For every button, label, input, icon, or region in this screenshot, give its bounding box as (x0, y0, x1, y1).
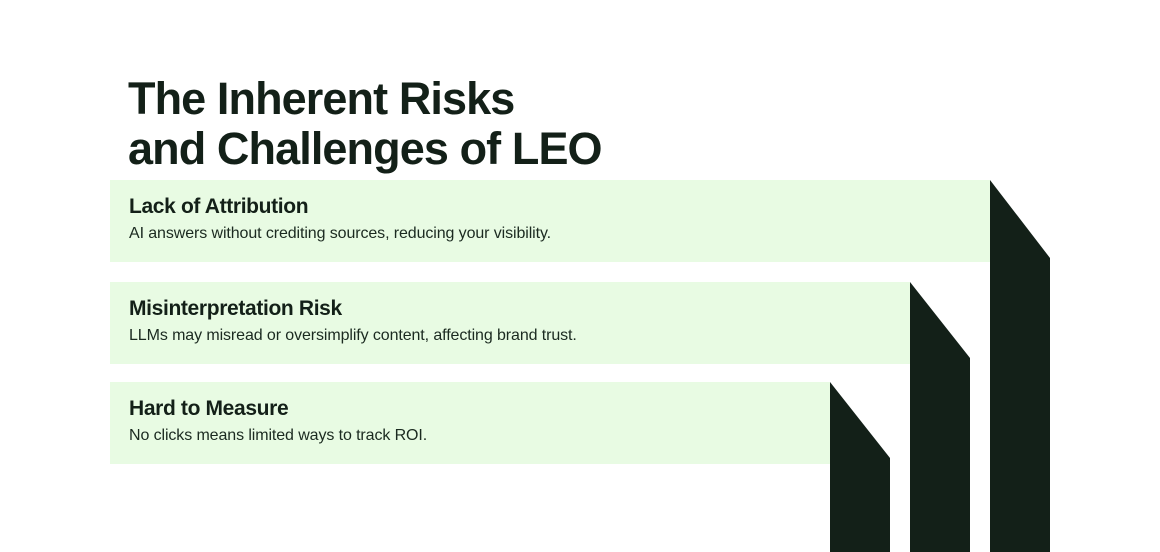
slide-canvas: The Inherent Risks and Challenges of LEO… (0, 0, 1160, 552)
risk-card-title: Misinterpretation Risk (129, 296, 910, 322)
risk-card-description: No clicks means limited ways to track RO… (129, 425, 830, 446)
decorative-bar-2 (910, 282, 970, 552)
risk-card-description: LLMs may misread or oversimplify content… (129, 325, 910, 346)
risk-card-misinterpretation-risk: Misinterpretation Risk LLMs may misread … (110, 282, 910, 364)
risk-card-title: Lack of Attribution (129, 194, 990, 220)
risk-card-hard-to-measure: Hard to Measure No clicks means limited … (110, 382, 830, 464)
decorative-bar-1 (990, 180, 1050, 552)
decorative-bar-3 (830, 382, 890, 552)
risk-card-title: Hard to Measure (129, 396, 830, 422)
risk-card-description: AI answers without crediting sources, re… (129, 223, 990, 244)
page-title: The Inherent Risks and Challenges of LEO (128, 74, 768, 174)
risk-card-lack-of-attribution: Lack of Attribution AI answers without c… (110, 180, 990, 262)
